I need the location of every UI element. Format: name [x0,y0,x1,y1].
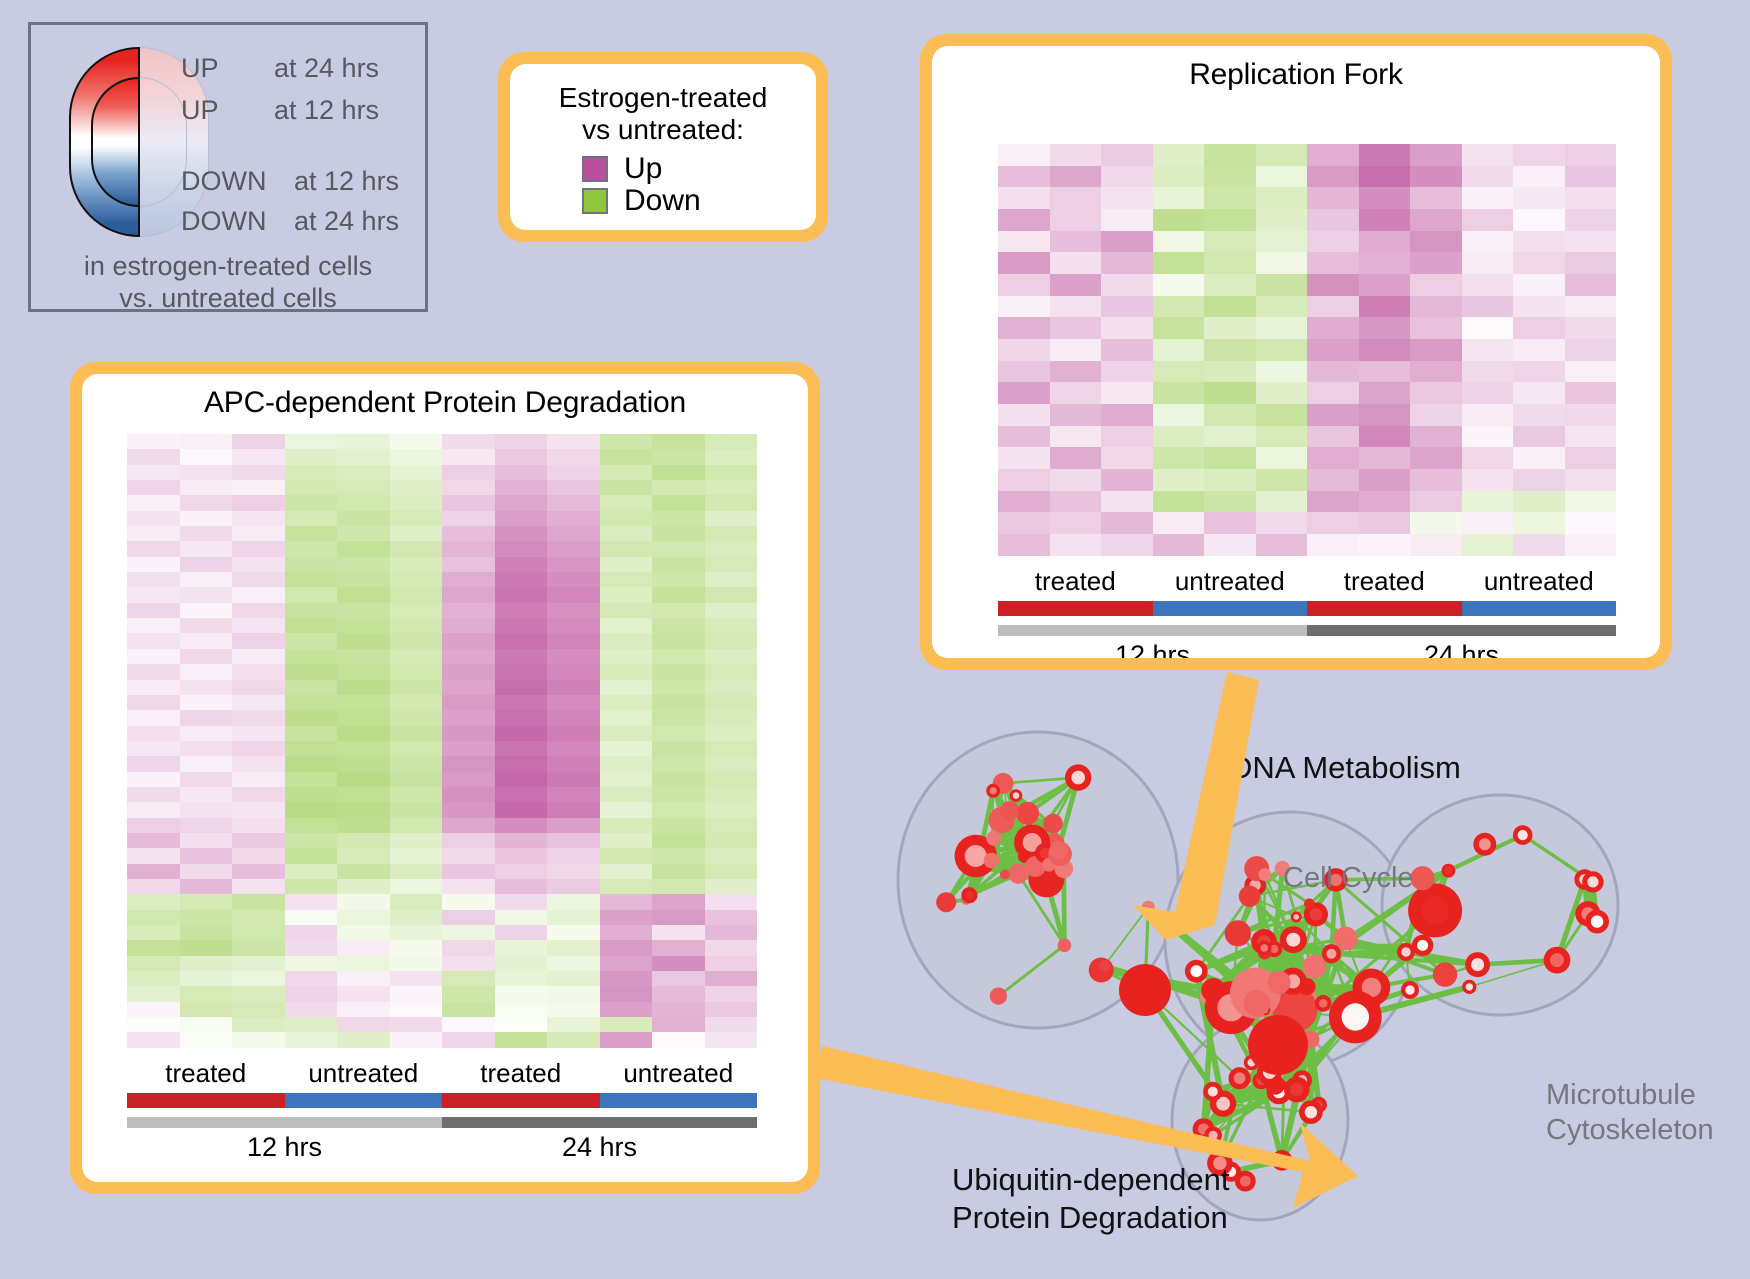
heatmap-cell [232,956,285,971]
heatmap-cell [1050,339,1102,361]
heatmap-cell [285,710,338,725]
heatmap-cell [495,802,548,817]
heatmap-cell [390,480,443,495]
heatmap-cell [652,1032,705,1047]
heatmap-cell [495,986,548,1001]
heatmap-cell [998,252,1050,274]
network-node[interactable] [1142,901,1155,914]
heatmap-cell [705,511,758,526]
heatmap-cell [547,587,600,602]
heatmap-cell [1204,512,1256,534]
heatmap-cell [600,787,653,802]
heatmap-cell [1153,187,1205,209]
heatmap-cell [652,956,705,971]
network-node-core[interactable] [1013,792,1020,799]
heatmap-cell [337,802,390,817]
heatmap-row [998,426,1616,448]
wheel-footnote-line1: in estrogen-treated cells [31,251,425,283]
heatmap-cell [495,541,548,556]
heatmap-cell [1050,447,1102,469]
heatmap-row [127,449,757,464]
heatmap-cell [180,726,233,741]
heatmap-cell [1101,274,1153,296]
heatmap-cell [1410,447,1462,469]
heatmap-cell [442,1017,495,1032]
network-node[interactable] [1202,980,1222,1000]
heatmap-cell [1204,166,1256,188]
heatmap-cell [285,741,338,756]
heatmap-cell [1565,209,1617,231]
heatmap-cell [127,587,180,602]
heatmap-cell [1410,144,1462,166]
network-node-core[interactable] [1234,1072,1246,1084]
heatmap-cell [495,848,548,863]
network-node[interactable] [1268,971,1291,994]
heatmap-cell [337,910,390,925]
network-node-core[interactable] [1190,965,1202,977]
heatmap-cell [390,541,443,556]
bar-12hrs [127,1117,442,1128]
network-node[interactable] [1000,870,1010,880]
heatmap-cell [1359,187,1411,209]
network-node[interactable] [1016,802,1039,825]
heatmap-cell [442,633,495,648]
heatmap-cell [1153,382,1205,404]
network-node-core[interactable] [1445,867,1452,874]
heatmap-cell [442,695,495,710]
heatmap-cell [1256,382,1308,404]
heatmap-cell [285,956,338,971]
network-node-core[interactable] [1293,914,1299,920]
network-node-core[interactable] [1518,830,1528,840]
heatmap-cell [1050,296,1102,318]
network-node-core[interactable] [1071,771,1085,785]
heatmap-cell [390,894,443,909]
heatmap-cell [180,603,233,618]
bar-untreated-24 [600,1093,758,1108]
heatmap-cell [1410,382,1462,404]
heatmap-row [127,649,757,664]
heatmap-cell [127,833,180,848]
heatmap-cell [442,434,495,449]
heatmap-cell [652,848,705,863]
heatmap-cell [127,633,180,648]
heatmap-cell [547,787,600,802]
heatmap-cell [547,864,600,879]
replication-fork-treatment-bar [998,601,1616,616]
heatmap-cell [1101,296,1153,318]
heatmap-cell [600,695,653,710]
heatmap-cell [127,756,180,771]
heatmap-cell [1153,426,1205,448]
heatmap-row [998,252,1616,274]
network-node[interactable] [1248,1015,1308,1075]
heatmap-cell [1050,361,1102,383]
time-label-12hrs: 12 hrs [998,640,1307,658]
heatmap-cell [442,848,495,863]
heatmap-cell [1359,534,1411,556]
heatmap-cell [495,741,548,756]
network-node[interactable] [1259,868,1272,881]
heatmap-cell [547,894,600,909]
heatmap-cell [1153,252,1205,274]
heatmap-cell [1256,469,1308,491]
heatmap-cell [652,741,705,756]
heatmap-cell [337,986,390,1001]
heatmap-cell [652,572,705,587]
network-node[interactable] [990,988,1007,1005]
heatmap-cell [652,1017,705,1032]
heatmap-cell [1513,491,1565,513]
heatmap-row [998,166,1616,188]
heatmap-cell [232,864,285,879]
heatmap-cell [127,695,180,710]
heatmap-cell [337,603,390,618]
heatmap-cell [1204,426,1256,448]
network-node-core[interactable] [1587,876,1598,887]
heatmap-cell [600,526,653,541]
heatmap-cell [1307,209,1359,231]
heatmap-cell [1565,404,1617,426]
replication-fork-heatmap [998,144,1616,556]
heatmap-cell [1204,317,1256,339]
network-node[interactable] [1000,801,1019,820]
network-node-core[interactable] [1326,949,1336,959]
heatmap-cell [1153,361,1205,383]
heatmap-cell [1565,512,1617,534]
network-node-core[interactable] [1310,908,1323,921]
heatmap-cell [127,848,180,863]
heatmap-cell [285,587,338,602]
heatmap-cell [1307,361,1359,383]
network-node[interactable] [1303,955,1327,979]
heatmap-row [127,1032,757,1047]
heatmap-cell [1153,166,1205,188]
network-node[interactable] [1119,964,1171,1016]
heatmap-cell [180,480,233,495]
legend-row-up: Up [582,154,802,184]
wheel-divider [138,47,140,237]
network-node-core[interactable] [1550,953,1564,967]
heatmap-cell [1565,231,1617,253]
time-label-12hrs: 12 hrs [127,1132,442,1163]
heatmap-cell [337,971,390,986]
heatmap-cell [180,925,233,940]
heatmap-row [998,491,1616,513]
heatmap-cell [442,726,495,741]
down-swatch-icon [582,188,608,214]
heatmap-cell [547,848,600,863]
heatmap-cell [547,434,600,449]
heatmap-row [998,144,1616,166]
network-node[interactable] [1244,990,1271,1017]
bar-24hrs [442,1117,757,1128]
heatmap-row [127,940,757,955]
heatmap-cell [337,956,390,971]
heatmap-cell [652,603,705,618]
heatmap-cell [442,756,495,771]
heatmap-cell [1050,274,1102,296]
network-node-core[interactable] [1305,1106,1317,1118]
heatmap-cell [600,649,653,664]
network-node[interactable] [1058,939,1072,953]
heatmap-cell [232,1017,285,1032]
heatmap-cell [495,726,548,741]
heatmap-cell [442,480,495,495]
heatmap-cell [705,818,758,833]
heatmap-cell [1256,512,1308,534]
network-node-core[interactable] [1471,958,1484,971]
heatmap-cell [127,772,180,787]
heatmap-cell [1101,382,1153,404]
heatmap-row [127,664,757,679]
heatmap-cell [390,726,443,741]
heatmap-cell [600,971,653,986]
heatmap-cell [1410,534,1462,556]
heatmap-cell [127,986,180,1001]
group-label-treated-12: treated [127,1058,285,1089]
network-node[interactable] [1008,864,1028,884]
heatmap-cell [1256,296,1308,318]
heatmap-cell [652,772,705,787]
heatmap-cell [390,633,443,648]
heatmap-cell [285,695,338,710]
network-node[interactable] [1433,962,1457,986]
replication-fork-axis: treated untreated treated untreated 12 h… [998,566,1616,658]
heatmap-row [127,633,757,648]
heatmap-cell [547,480,600,495]
heatmap-cell [1101,361,1153,383]
heatmap-cell [495,956,548,971]
heatmap-cell [127,649,180,664]
heatmap-cell [652,541,705,556]
heatmap-cell [1462,382,1514,404]
heatmap-cell [1565,491,1617,513]
heatmap-cell [337,480,390,495]
heatmap-cell [1153,447,1205,469]
heatmap-cell [1204,339,1256,361]
heatmap-cell [1513,274,1565,296]
heatmap-cell [1513,339,1565,361]
network-node-core[interactable] [1290,1083,1303,1096]
heatmap-cell [1513,144,1565,166]
heatmap-cell [1050,187,1102,209]
heatmap-cell [705,695,758,710]
network-node-core[interactable] [1479,838,1491,850]
network-node-core[interactable] [1421,896,1449,924]
heatmap-cell [442,603,495,618]
network-node-core[interactable] [1240,1176,1251,1187]
network-node-core[interactable] [1417,940,1428,951]
network-node[interactable] [1049,841,1067,859]
heatmap-cell [705,1032,758,1047]
network-node-core[interactable] [1260,944,1268,952]
network-node[interactable] [984,853,1000,869]
heatmap-cell [180,971,233,986]
heatmap-cell [180,986,233,1001]
heatmap-cell [1359,166,1411,188]
heatmap-cell [652,495,705,510]
heatmap-cell [390,526,443,541]
network-node-core[interactable] [1466,983,1473,990]
heatmap-cell [652,1002,705,1017]
heatmap-cell [600,710,653,725]
network-node[interactable] [986,831,1001,846]
network-node[interactable] [1410,866,1434,890]
heatmap-cell [1256,144,1308,166]
heatmap-cell [1101,491,1153,513]
heatmap-cell [600,894,653,909]
heatmap-cell [442,541,495,556]
heatmap-row [998,339,1616,361]
heatmap-cell [652,986,705,1001]
heatmap-cell [547,633,600,648]
heatmap-cell [1101,252,1153,274]
heatmap-cell [547,879,600,894]
heatmap-cell [1359,447,1411,469]
heatmap-cell [1307,187,1359,209]
heatmap-cell [705,1017,758,1032]
heatmap-row [127,971,757,986]
heatmap-row [127,879,757,894]
updown-legend-rows: Up Down [524,154,802,216]
group-label-untreated-24: untreated [1462,566,1617,597]
heatmap-cell [442,940,495,955]
network-node[interactable] [1225,920,1251,946]
heatmap-cell [390,879,443,894]
network-node[interactable] [1043,814,1063,834]
heatmap-cell [1050,166,1102,188]
heatmap-cell [998,144,1050,166]
heatmap-cell [1101,469,1153,491]
heatmap-cell [337,1017,390,1032]
heatmap-row [127,802,757,817]
heatmap-cell [180,511,233,526]
heatmap-cell [337,756,390,771]
heatmap-cell [390,511,443,526]
heatmap-cell [1204,209,1256,231]
heatmap-cell [705,741,758,756]
heatmap-cell [547,649,600,664]
heatmap-cell [390,649,443,664]
heatmap-cell [1462,144,1514,166]
heatmap-cell [390,756,443,771]
heatmap-cell [390,434,443,449]
heatmap-cell [337,434,390,449]
network-node-core[interactable] [1208,1087,1218,1097]
heatmap-cell [1565,382,1617,404]
heatmap-row [998,187,1616,209]
network-node[interactable] [1099,960,1110,971]
heatmap-cell [705,848,758,863]
network-node[interactable] [1239,886,1260,907]
heatmap-cell [1101,209,1153,231]
heatmap-cell [285,833,338,848]
heatmap-cell [1153,144,1205,166]
heatmap-cell [600,480,653,495]
cluster-label-microtubule-cytoskeleton: Microtubule Cytoskeleton [1546,1078,1714,1149]
heatmap-cell [180,802,233,817]
heatmap-cell [495,879,548,894]
heatmap-cell [1153,491,1205,513]
legend-label-down: Down [624,186,701,216]
heatmap-cell [285,618,338,633]
network-node-core[interactable] [1401,947,1410,956]
heatmap-cell [600,664,653,679]
heatmap-cell [600,925,653,940]
heatmap-cell [705,986,758,1001]
bar-treated-12 [998,601,1153,616]
heatmap-cell [547,618,600,633]
network-node-core[interactable] [1405,985,1414,994]
heatmap-cell [1513,469,1565,491]
heatmap-cell [547,971,600,986]
network-node-core[interactable] [1319,999,1328,1008]
heatmap-cell [180,465,233,480]
network-node[interactable] [1304,898,1314,908]
heatmap-cell [285,726,338,741]
heatmap-cell [285,787,338,802]
heatmap-cell [705,495,758,510]
heatmap-cell [600,633,653,648]
heatmap-cell [998,209,1050,231]
heatmap-cell [442,802,495,817]
heatmap-cell [1204,404,1256,426]
heatmap-cell [705,956,758,971]
network-node-core[interactable] [1342,1003,1369,1030]
network-node-core[interactable] [965,845,987,867]
heatmap-cell [495,818,548,833]
network-node-core[interactable] [965,891,973,899]
wheel-time-up-24: at 24 hrs [274,53,379,84]
heatmap-cell [232,664,285,679]
heatmap-cell [705,894,758,909]
network-node-core[interactable] [1591,915,1603,927]
heatmap-cell [442,526,495,541]
heatmap-cell [180,894,233,909]
heatmap-row [998,231,1616,253]
heatmap-cell [127,940,180,955]
heatmap-cell [1410,512,1462,534]
heatmap-cell [127,526,180,541]
heatmap-cell [1256,534,1308,556]
heatmap-cell [337,495,390,510]
heatmap-cell [180,756,233,771]
heatmap-cell [1050,491,1102,513]
heatmap-row [127,526,757,541]
heatmap-cell [285,940,338,955]
network-node-core[interactable] [990,787,997,794]
heatmap-cell [285,1002,338,1017]
heatmap-cell [337,664,390,679]
heatmap-row [127,741,757,756]
heatmap-cell [1256,491,1308,513]
heatmap-cell [1565,361,1617,383]
heatmap-cell [1462,166,1514,188]
heatmap-cell [652,664,705,679]
heatmap-cell [390,495,443,510]
network-node-core[interactable] [1209,1131,1218,1140]
heatmap-cell [600,818,653,833]
heatmap-cell [285,541,338,556]
heatmap-cell [495,710,548,725]
heatmap-cell [705,1002,758,1017]
network-node-core[interactable] [1277,1155,1288,1166]
network-node[interactable] [936,892,956,912]
network-node-core[interactable] [1286,933,1300,947]
heatmap-cell [390,1002,443,1017]
heatmap-cell [180,557,233,572]
